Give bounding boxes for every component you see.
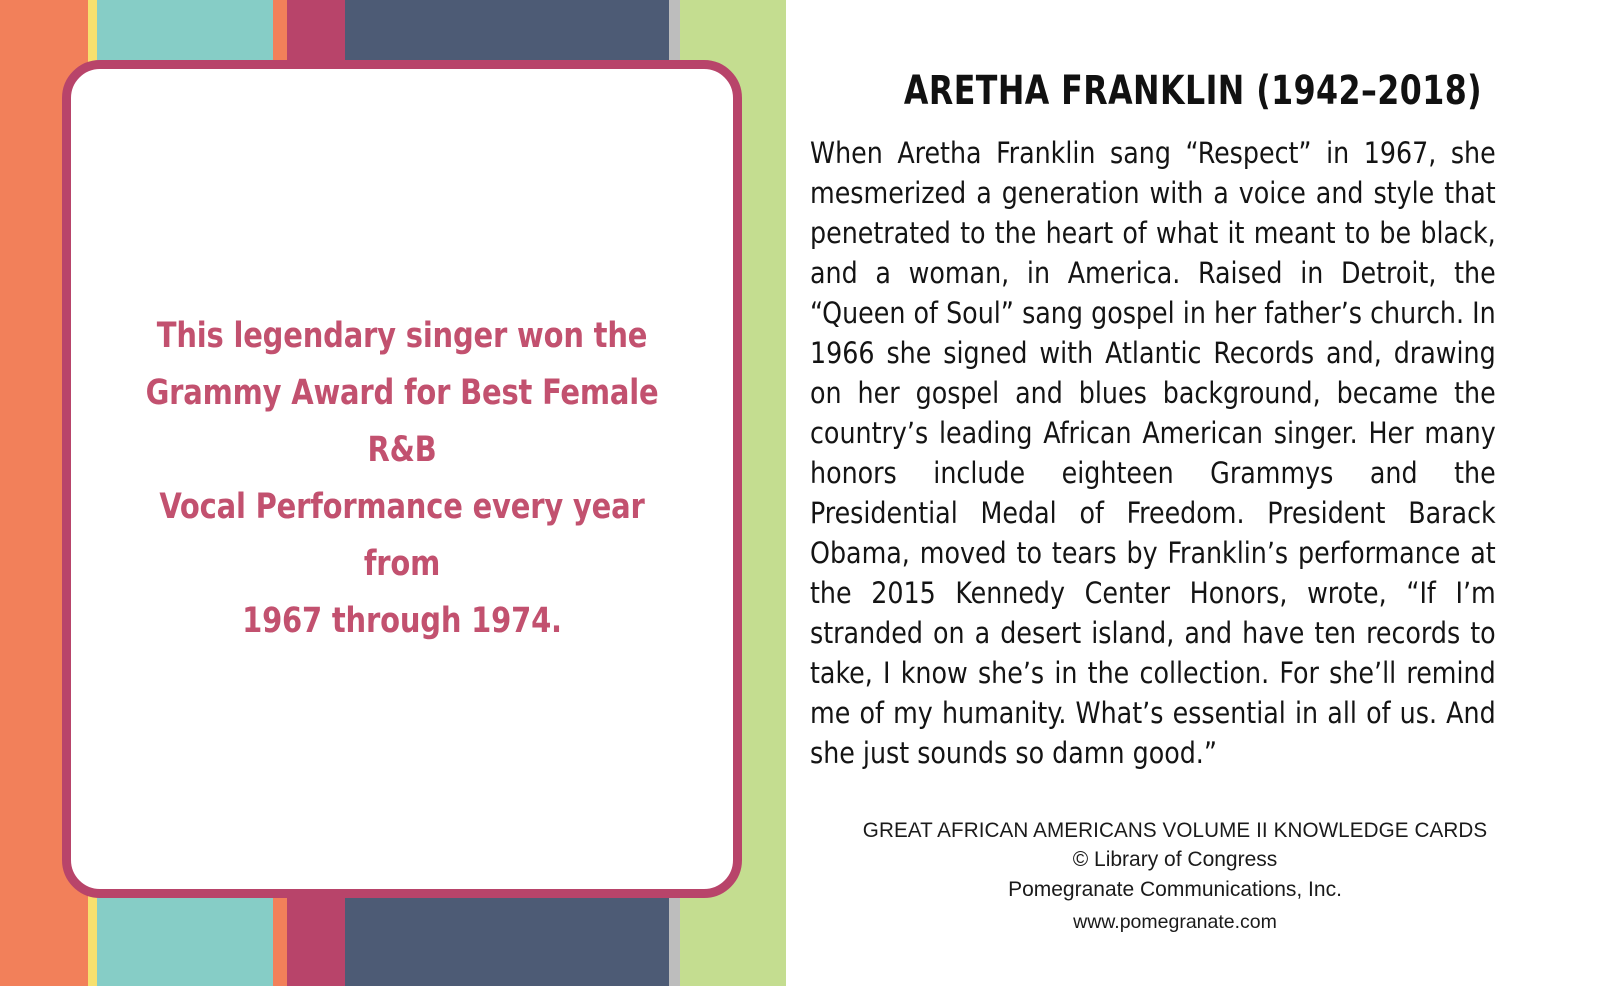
- footer-credit-line: © Library of Congress: [810, 845, 1540, 875]
- card-text-panel: ARETHA FRANKLIN (1942–2018) When Aretha …: [786, 0, 1600, 986]
- page-title: ARETHA FRANKLIN (1942–2018): [835, 68, 1551, 114]
- quote-text: This legendary singer won the Grammy Awa…: [126, 308, 678, 650]
- quote-frame: This legendary singer won the Grammy Awa…: [62, 60, 742, 898]
- card-footer: GREAT AFRICAN AMERICANS VOLUME II KNOWLE…: [810, 815, 1540, 937]
- footer-publisher-line: Pomegranate Communications, Inc.: [810, 875, 1540, 905]
- footer-url-line: www.pomegranate.com: [810, 907, 1540, 937]
- footer-series-line: GREAT AFRICAN AMERICANS VOLUME II KNOWLE…: [825, 815, 1526, 845]
- card-illustration-panel: This legendary singer won the Grammy Awa…: [0, 0, 786, 986]
- knowledge-card: This legendary singer won the Grammy Awa…: [0, 0, 1600, 986]
- biography-body-text: When Aretha Franklin sang “Respect” in 1…: [810, 133, 1496, 773]
